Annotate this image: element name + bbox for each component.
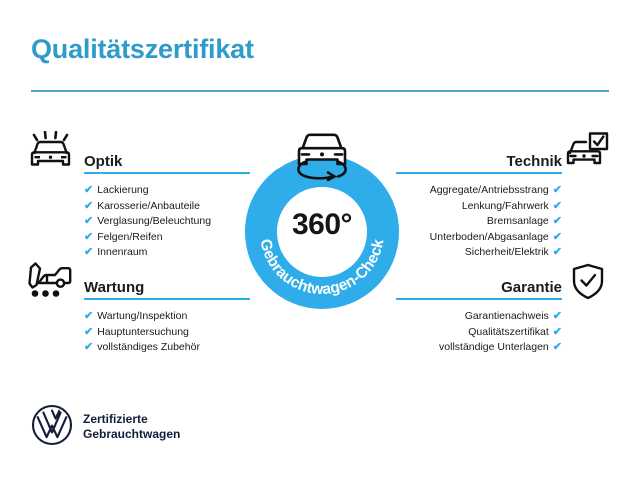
section-wartung-title: Wartung bbox=[84, 279, 144, 296]
section-garantie-header: Garantie bbox=[396, 272, 562, 298]
section-technik-header: Technik bbox=[396, 146, 562, 172]
certificate-page: Qualitätszertifikat bbox=[0, 0, 640, 480]
section-optik-list: ✔Lackierung ✔Karosserie/Anbauteile ✔Verg… bbox=[84, 183, 250, 261]
check-icon: ✔ bbox=[84, 341, 93, 353]
car-rotate-icon bbox=[283, 126, 361, 191]
title-divider bbox=[31, 90, 609, 92]
check-icon: ✔ bbox=[84, 215, 93, 227]
section-optik-title: Optik bbox=[84, 153, 122, 170]
list-item-label: Lenkung/Fahrwerk bbox=[462, 200, 549, 212]
check-icon: ✔ bbox=[553, 184, 562, 196]
check-icon: ✔ bbox=[553, 231, 562, 243]
section-technik: Technik Aggregate/Antriebsstrang✔ Lenkun… bbox=[396, 146, 562, 261]
list-item-label: Innenraum bbox=[97, 246, 147, 258]
car-shine-icon bbox=[27, 131, 73, 176]
section-wartung-divider bbox=[84, 298, 250, 300]
list-item: Sicherheit/Elektrik✔ bbox=[396, 245, 562, 261]
list-item-label: Lackierung bbox=[97, 184, 148, 196]
list-item: ✔Felgen/Reifen bbox=[84, 230, 250, 246]
list-item-label: Aggregate/Antriebsstrang bbox=[430, 184, 549, 196]
shield-check-icon bbox=[570, 262, 606, 307]
check-icon: ✔ bbox=[553, 310, 562, 322]
list-item: ✔Lackierung bbox=[84, 183, 250, 199]
section-optik-divider bbox=[84, 172, 250, 174]
list-item: ✔Karosserie/Anbauteile bbox=[84, 199, 250, 215]
section-technik-title: Technik bbox=[506, 153, 562, 170]
check-icon: ✔ bbox=[84, 200, 93, 212]
check-icon: ✔ bbox=[553, 246, 562, 258]
section-garantie-list: Garantienachweis✔ Qualitätszertifikat✔ v… bbox=[396, 309, 562, 356]
list-item: vollständige Unterlagen✔ bbox=[396, 340, 562, 356]
list-item-label: Qualitätszertifikat bbox=[468, 326, 549, 338]
list-item: Lenkung/Fahrwerk✔ bbox=[396, 199, 562, 215]
list-item: Aggregate/Antriebsstrang✔ bbox=[396, 183, 562, 199]
list-item-label: Felgen/Reifen bbox=[97, 231, 162, 243]
section-optik-header: Optik bbox=[84, 146, 250, 172]
section-garantie-divider bbox=[396, 298, 562, 300]
car-service-tool-icon bbox=[27, 261, 73, 306]
list-item: ✔vollständiges Zubehör bbox=[84, 340, 250, 356]
section-garantie: Garantie Garantienachweis✔ Qualitätszert… bbox=[396, 272, 562, 356]
list-item-label: Karosserie/Anbauteile bbox=[97, 200, 200, 212]
list-item: Bremsanlage✔ bbox=[396, 214, 562, 230]
section-optik: Optik ✔Lackierung ✔Karosserie/Anbauteile… bbox=[84, 146, 250, 261]
list-item: Qualitätszertifikat✔ bbox=[396, 325, 562, 341]
check-icon: ✔ bbox=[84, 231, 93, 243]
car-checkbox-icon bbox=[564, 131, 610, 176]
footer-line-2: Gebrauchtwagen bbox=[83, 427, 180, 442]
section-wartung-list: ✔Wartung/Inspektion ✔Hauptuntersuchung ✔… bbox=[84, 309, 250, 356]
list-item-label: Sicherheit/Elektrik bbox=[465, 246, 549, 258]
section-wartung: Wartung ✔Wartung/Inspektion ✔Hauptunters… bbox=[84, 272, 250, 356]
volkswagen-logo bbox=[31, 404, 73, 451]
check-icon: ✔ bbox=[553, 341, 562, 353]
check-icon: ✔ bbox=[84, 246, 93, 258]
section-wartung-header: Wartung bbox=[84, 272, 250, 298]
check-icon: ✔ bbox=[84, 326, 93, 338]
list-item: Garantienachweis✔ bbox=[396, 309, 562, 325]
list-item: ✔Hauptuntersuchung bbox=[84, 325, 250, 341]
section-technik-list: Aggregate/Antriebsstrang✔ Lenkung/Fahrwe… bbox=[396, 183, 562, 261]
section-technik-divider bbox=[396, 172, 562, 174]
list-item-label: vollständige Unterlagen bbox=[439, 341, 549, 353]
list-item-label: Wartung/Inspektion bbox=[97, 310, 187, 322]
list-item-label: vollständiges Zubehör bbox=[97, 341, 200, 353]
footer-line-1: Zertifizierte bbox=[83, 412, 180, 427]
list-item-label: Bremsanlage bbox=[487, 215, 549, 227]
section-garantie-title: Garantie bbox=[501, 279, 562, 296]
check-icon: ✔ bbox=[84, 184, 93, 196]
list-item-label: Unterboden/Abgasanlage bbox=[430, 231, 549, 243]
list-item-label: Hauptuntersuchung bbox=[97, 326, 189, 338]
check-icon: ✔ bbox=[553, 215, 562, 227]
list-item: ✔Verglasung/Beleuchtung bbox=[84, 214, 250, 230]
check-icon: ✔ bbox=[553, 326, 562, 338]
list-item-label: Verglasung/Beleuchtung bbox=[97, 215, 211, 227]
list-item: Unterboden/Abgasanlage✔ bbox=[396, 230, 562, 246]
list-item: ✔Wartung/Inspektion bbox=[84, 309, 250, 325]
badge-degrees: 360° bbox=[238, 208, 406, 242]
check-icon: ✔ bbox=[553, 200, 562, 212]
list-item: ✔Innenraum bbox=[84, 245, 250, 261]
check-icon: ✔ bbox=[84, 310, 93, 322]
footer-text: Zertifizierte Gebrauchtwagen bbox=[83, 412, 180, 442]
list-item-label: Garantienachweis bbox=[465, 310, 549, 322]
page-title: Qualitätszertifikat bbox=[31, 34, 254, 65]
